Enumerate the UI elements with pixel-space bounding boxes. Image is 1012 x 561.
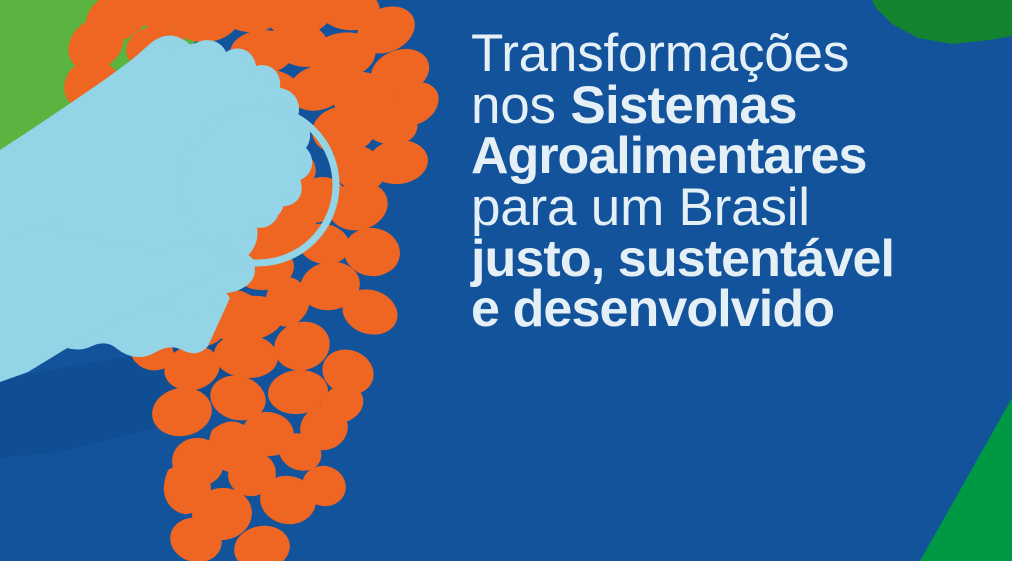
- headline-line-1: Transformações: [471, 28, 991, 80]
- headline-line-6: e desenvolvido: [471, 284, 991, 335]
- headline-line-5: justo, sustentável: [471, 234, 991, 285]
- headline-line-2-light: nos: [471, 76, 570, 135]
- headline-line-2: nos Sistemas: [471, 80, 991, 132]
- page-title: Transformações nos Sistemas Agroalimenta…: [471, 28, 991, 335]
- poster-canvas: Transformações nos Sistemas Agroalimenta…: [0, 0, 1012, 561]
- headline-line-3: Agroalimentares: [471, 131, 991, 182]
- headline-line-4: para um Brasil: [471, 182, 991, 234]
- headline-line-2-bold: Sistemas: [570, 76, 796, 135]
